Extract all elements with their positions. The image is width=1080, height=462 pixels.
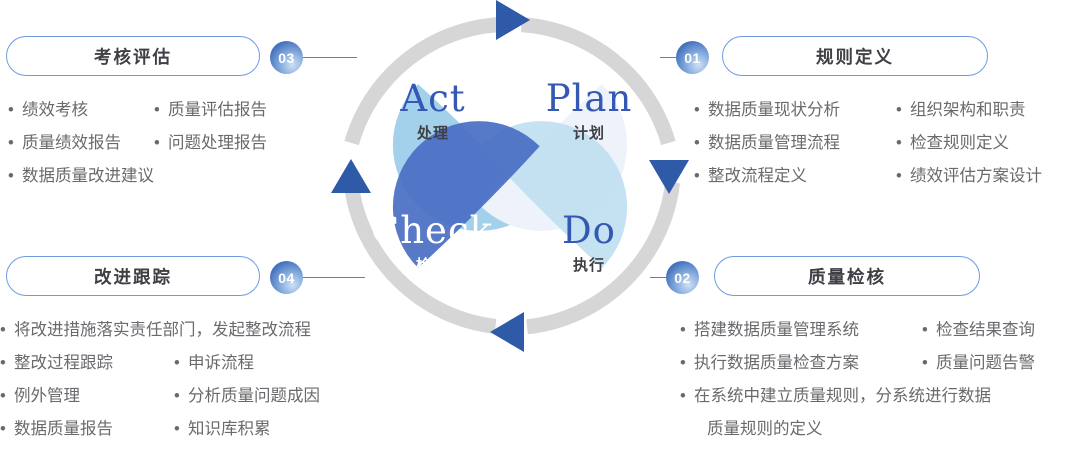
list-item: 质量评估报告	[154, 94, 320, 127]
pdca-cycle-diagram: Act 处理 Plan 计划 Check 检查 Do 执行	[318, 0, 702, 356]
list-item: 搭建数据质量管理系统	[680, 314, 916, 347]
list-item: 整改流程定义	[694, 160, 890, 193]
quadrant-improvement-tracking: 改进跟踪 04 将改进措施落实责任部门，发起整改流程 整改过程跟踪 申诉流程 例…	[0, 256, 372, 446]
list-item: 将改进措施落实责任部门，发起整改流程	[0, 314, 372, 347]
quadrant-03-title: 考核评估	[94, 44, 172, 69]
step-badge-02: 02	[666, 261, 699, 294]
list-item: 检查结果查询	[922, 314, 1080, 347]
list-item: 分析质量问题成因	[174, 380, 372, 413]
connector-line-01	[660, 57, 676, 58]
list-item: 组织架构和职责	[896, 94, 1080, 127]
list-item: 数据质量管理流程	[694, 127, 890, 160]
quadrant-02-title: 质量检核	[808, 264, 886, 289]
list-item: 数据质量改进建议	[8, 160, 320, 193]
connector-line-02	[650, 277, 666, 278]
list-item: 例外管理	[0, 380, 168, 413]
quadrant-03-title-pill[interactable]: 考核评估	[6, 36, 260, 76]
quadrant-02-bullets: 搭建数据质量管理系统 检查结果查询 执行数据质量检查方案 质量问题告警 在系统中…	[680, 314, 1080, 446]
step-badge-03: 03	[270, 41, 303, 74]
quadrant-01-title: 规则定义	[816, 44, 894, 69]
connector-line-04	[303, 277, 365, 278]
quadrant-04-title-pill[interactable]: 改进跟踪	[6, 256, 260, 296]
arrow-top-icon	[496, 0, 530, 40]
list-item: 问题处理报告	[154, 127, 320, 160]
quadrant-03-header: 考核评估 03	[0, 36, 320, 78]
quadrant-04-bullets: 将改进措施落实责任部门，发起整改流程 整改过程跟踪 申诉流程 例外管理 分析质量…	[0, 314, 372, 446]
quadrant-assessment-evaluation: 考核评估 03 绩效考核 质量评估报告 质量绩效报告 问题处理报告 数据质量改进…	[0, 36, 320, 193]
quadrant-01-header: 01 规则定义	[676, 36, 1080, 78]
quadrant-quality-inspection: 02 质量检核 搭建数据质量管理系统 检查结果查询 执行数据质量检查方案 质量问…	[666, 256, 1080, 446]
arrow-left-icon	[331, 159, 371, 193]
step-badge-04: 04	[270, 261, 303, 294]
arrow-bottom-icon	[490, 312, 524, 352]
quadrant-rule-definition: 01 规则定义 数据质量现状分析 组织架构和职责 数据质量管理流程 检查规则定义…	[676, 36, 1080, 193]
quadrant-04-header: 改进跟踪 04	[0, 256, 372, 298]
quadrant-04-title: 改进跟踪	[94, 264, 172, 289]
quadrant-03-bullets: 绩效考核 质量评估报告 质量绩效报告 问题处理报告 数据质量改进建议	[8, 94, 320, 193]
step-badge-01: 01	[676, 41, 709, 74]
list-item: 数据质量报告	[0, 413, 168, 446]
list-item-continuation: 质量规则的定义	[680, 413, 1080, 446]
list-item: 质量绩效报告	[8, 127, 148, 160]
quadrant-01-title-pill[interactable]: 规则定义	[722, 36, 988, 76]
list-item: 检查规则定义	[896, 127, 1080, 160]
list-item: 质量问题告警	[922, 347, 1080, 380]
list-item: 在系统中建立质量规则，分系统进行数据	[680, 380, 1080, 413]
list-item: 绩效考核	[8, 94, 148, 127]
list-item: 数据质量现状分析	[694, 94, 890, 127]
list-item: 申诉流程	[174, 347, 372, 380]
list-item: 执行数据质量检查方案	[680, 347, 916, 380]
pdca-graphic	[318, 0, 702, 356]
list-item: 知识库积累	[174, 413, 372, 446]
list-item: 绩效评估方案设计	[896, 160, 1080, 193]
list-item: 整改过程跟踪	[0, 347, 168, 380]
quadrant-02-header: 02 质量检核	[666, 256, 1080, 298]
connector-line-03	[303, 57, 357, 58]
quadrant-02-title-pill[interactable]: 质量检核	[714, 256, 980, 296]
quadrant-01-bullets: 数据质量现状分析 组织架构和职责 数据质量管理流程 检查规则定义 整改流程定义 …	[694, 94, 1080, 193]
